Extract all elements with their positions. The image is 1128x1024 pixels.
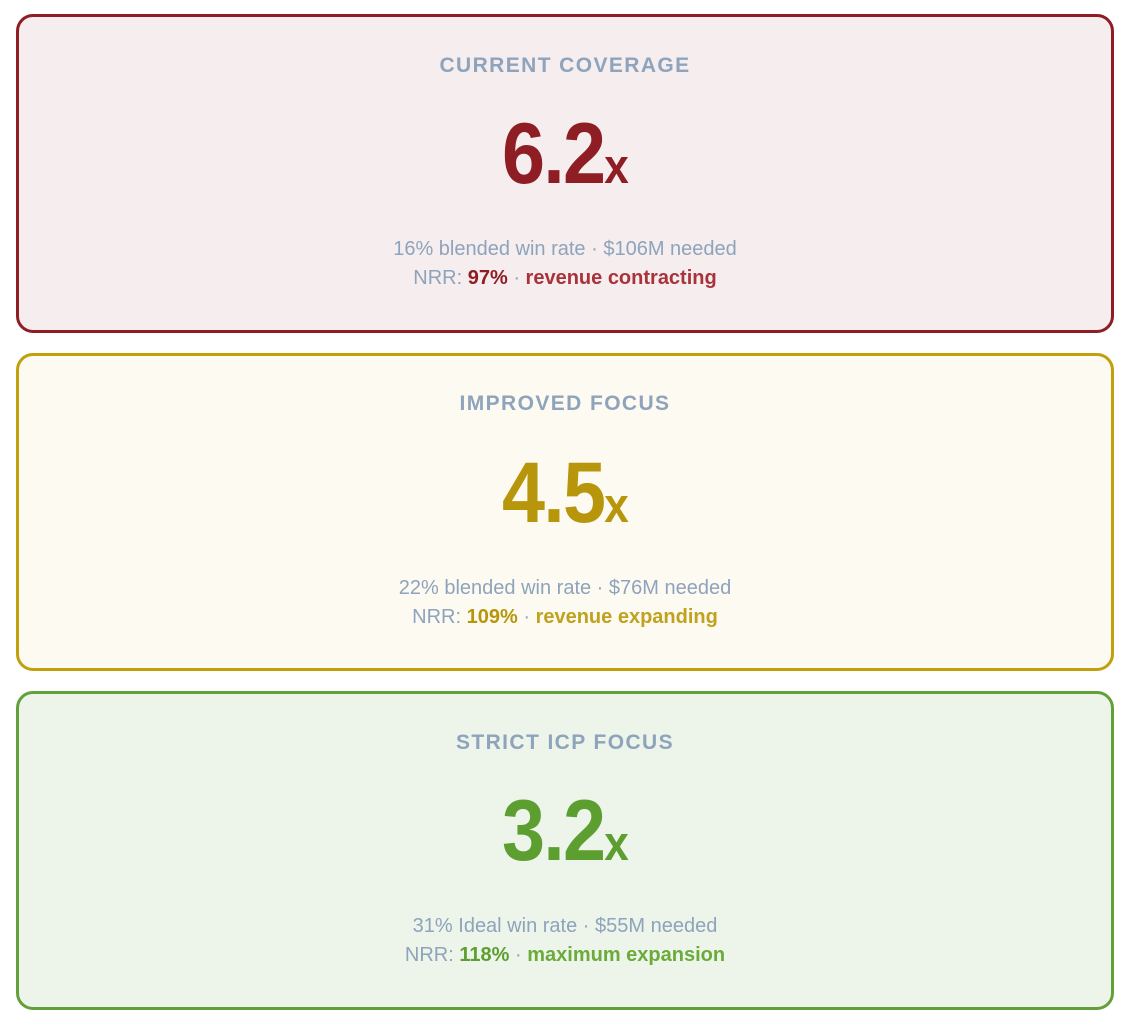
coverage-multiple-suffix: x: [604, 817, 628, 871]
scenario-nrr-detail: NRR: 118% · maximum expansion: [405, 941, 725, 970]
nrr-note: maximum expansion: [527, 944, 725, 966]
scenario-card-strict-icp-focus: STRICT ICP FOCUS 3.2x 31% Ideal win rate…: [16, 691, 1114, 1010]
scenario-winrate-detail: 31% Ideal win rate · $55M needed: [413, 912, 718, 941]
coverage-multiple-value: 4.5x: [502, 450, 628, 536]
nrr-separator: ·: [523, 606, 530, 628]
nrr-note: revenue contracting: [526, 267, 717, 289]
coverage-multiple-number: 6.2: [502, 106, 604, 202]
nrr-separator: ·: [515, 944, 522, 966]
scenario-nrr-detail: NRR: 97% · revenue contracting: [413, 264, 716, 293]
nrr-separator: ·: [513, 267, 520, 289]
nrr-value: 109%: [467, 606, 518, 628]
scenario-card-current-coverage: CURRENT COVERAGE 6.2x 16% blended win ra…: [16, 14, 1114, 333]
nrr-label: NRR:: [412, 606, 461, 628]
coverage-multiple-suffix: x: [604, 140, 628, 194]
coverage-multiple-value: 3.2x: [502, 788, 628, 874]
scenario-nrr-detail: NRR: 109% · revenue expanding: [412, 603, 718, 632]
scenario-winrate-detail: 16% blended win rate · $106M needed: [393, 235, 737, 264]
coverage-multiple-number: 4.5: [502, 445, 604, 541]
scenario-title: STRICT ICP FOCUS: [456, 731, 674, 754]
coverage-multiple-number: 3.2: [502, 783, 604, 879]
nrr-label: NRR:: [405, 944, 454, 966]
scenario-card-improved-focus: IMPROVED FOCUS 4.5x 22% blended win rate…: [16, 353, 1114, 672]
scenario-comparison-stack: CURRENT COVERAGE 6.2x 16% blended win ra…: [0, 0, 1128, 1024]
nrr-note: revenue expanding: [536, 606, 718, 628]
nrr-label: NRR:: [413, 267, 462, 289]
scenario-title: CURRENT COVERAGE: [439, 54, 690, 77]
scenario-title: IMPROVED FOCUS: [460, 392, 671, 415]
scenario-winrate-detail: 22% blended win rate · $76M needed: [399, 574, 731, 603]
coverage-multiple-value: 6.2x: [502, 111, 628, 197]
nrr-value: 118%: [459, 944, 509, 966]
nrr-value: 97%: [468, 267, 508, 289]
coverage-multiple-suffix: x: [604, 479, 628, 533]
